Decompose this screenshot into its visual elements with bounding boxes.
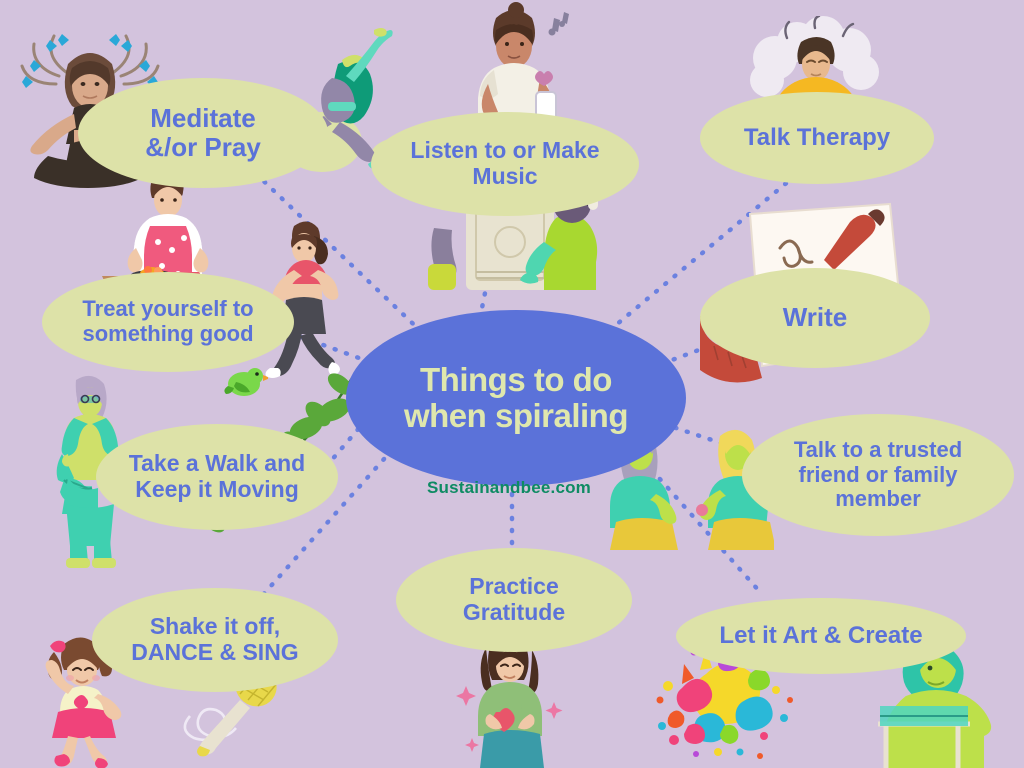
node-let-it-art-and-create-label: Let it Art & Create <box>686 623 956 650</box>
node-talk-therapy-label: Talk Therapy <box>710 125 924 152</box>
node-practice-gratitude[interactable]: PracticeGratitude <box>396 548 632 652</box>
node-talk-to-trusted-friend[interactable]: Talk to a trustedfriend or familymember <box>742 414 1014 536</box>
center-topic-bubble[interactable]: Things to dowhen spiraling <box>346 310 686 486</box>
node-practice-gratitude-label: PracticeGratitude <box>406 574 622 626</box>
node-talk-therapy[interactable]: Talk Therapy <box>700 92 934 184</box>
node-treat-yourself-label: Treat yourself tosomething good <box>52 297 284 346</box>
infographic-canvas: Meditate&/or Pray Listen to or MakeMusic… <box>0 0 1024 768</box>
site-url-text: Sustainandbee.com <box>404 478 614 498</box>
node-music[interactable]: Listen to or MakeMusic <box>371 112 639 216</box>
center-topic-label: Things to dowhen spiraling <box>404 362 628 435</box>
node-treat-yourself[interactable]: Treat yourself tosomething good <box>42 272 294 372</box>
green-bird-illustration <box>222 362 268 402</box>
node-take-a-walk[interactable]: Take a Walk andKeep it Moving <box>96 424 338 530</box>
node-write-label: Write <box>710 303 920 332</box>
node-meditate[interactable]: Meditate&/or Pray <box>78 78 328 188</box>
link-center-music <box>480 218 500 318</box>
node-dance-and-sing-label: Shake it off,DANCE & SING <box>102 614 328 666</box>
node-write[interactable]: Write <box>700 268 930 368</box>
node-take-a-walk-label: Take a Walk andKeep it Moving <box>106 451 328 503</box>
node-meditate-label: Meditate&/or Pray <box>88 104 318 162</box>
node-talk-to-trusted-friend-label: Talk to a trustedfriend or familymember <box>752 438 1004 512</box>
node-let-it-art-and-create[interactable]: Let it Art & Create <box>676 598 966 674</box>
node-music-label: Listen to or MakeMusic <box>381 138 629 190</box>
link-center-friend <box>664 424 760 456</box>
node-dance-and-sing[interactable]: Shake it off,DANCE & SING <box>92 588 338 692</box>
